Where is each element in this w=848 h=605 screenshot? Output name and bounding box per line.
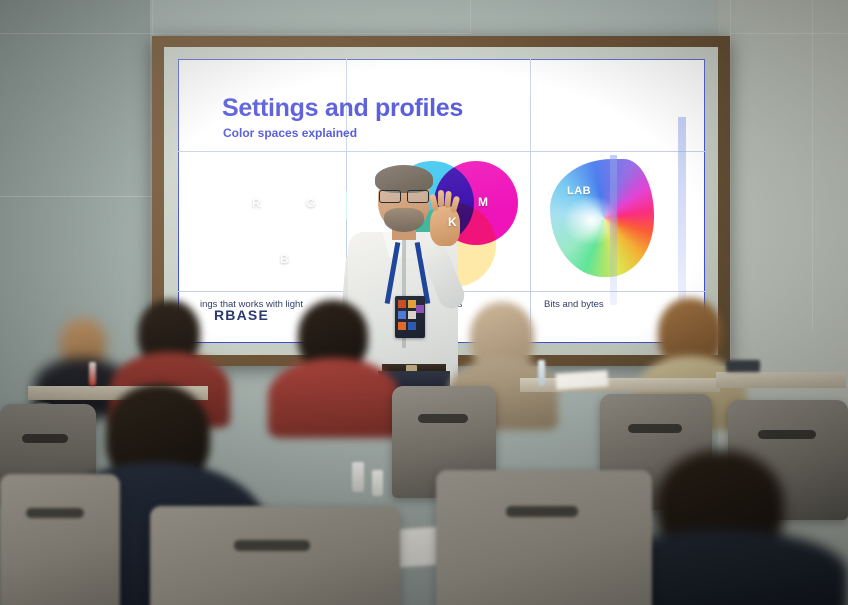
audience-table [520, 378, 720, 392]
slide-guide-line [530, 59, 531, 343]
rgb-venn-diagram: R G B [224, 164, 349, 286]
light-streak [678, 117, 686, 313]
light-streak [610, 155, 617, 305]
presenter-glasses [379, 190, 429, 201]
glasses-lens [407, 190, 429, 203]
slide-title: Settings and profiles [222, 94, 463, 123]
wall-seam [470, 0, 471, 34]
audience-shoulders [268, 358, 400, 438]
chair-foreground [436, 470, 652, 605]
glasses-lens [379, 190, 401, 203]
cmyk-label-k: K [448, 215, 457, 229]
water-bottle [89, 362, 96, 386]
wall-seam [0, 196, 152, 197]
conference-room-scene: Settings and profiles Color spaces expla… [0, 0, 848, 605]
chair-foreground [150, 506, 400, 605]
slide-subtitle: Color spaces explained [223, 126, 357, 140]
rgb-blue-circle [246, 204, 328, 286]
wall-seam [152, 0, 153, 36]
audience-table [716, 372, 846, 388]
water-bottle [538, 360, 545, 386]
presenter-beard [384, 208, 424, 232]
audience-member [268, 300, 400, 430]
cmyk-label-m: M [478, 195, 488, 209]
water-bottle [372, 470, 383, 496]
lab-horseshoe-shape [550, 159, 654, 277]
water-bottle [352, 462, 364, 492]
wall-seam [812, 0, 813, 330]
rgb-label-b: B [280, 252, 289, 266]
desk-microphone [726, 360, 760, 372]
wall-seam [0, 33, 470, 34]
presenter-hair [375, 165, 433, 193]
wall-seam [730, 33, 848, 34]
rgb-label-r: R [252, 196, 261, 210]
lab-gamut-diagram: LAB [550, 159, 654, 277]
rgb-label-g: G [306, 196, 315, 210]
lab-label: LAB [567, 185, 591, 197]
slide-guide-line [178, 151, 705, 152]
chair-foreground [0, 474, 120, 605]
